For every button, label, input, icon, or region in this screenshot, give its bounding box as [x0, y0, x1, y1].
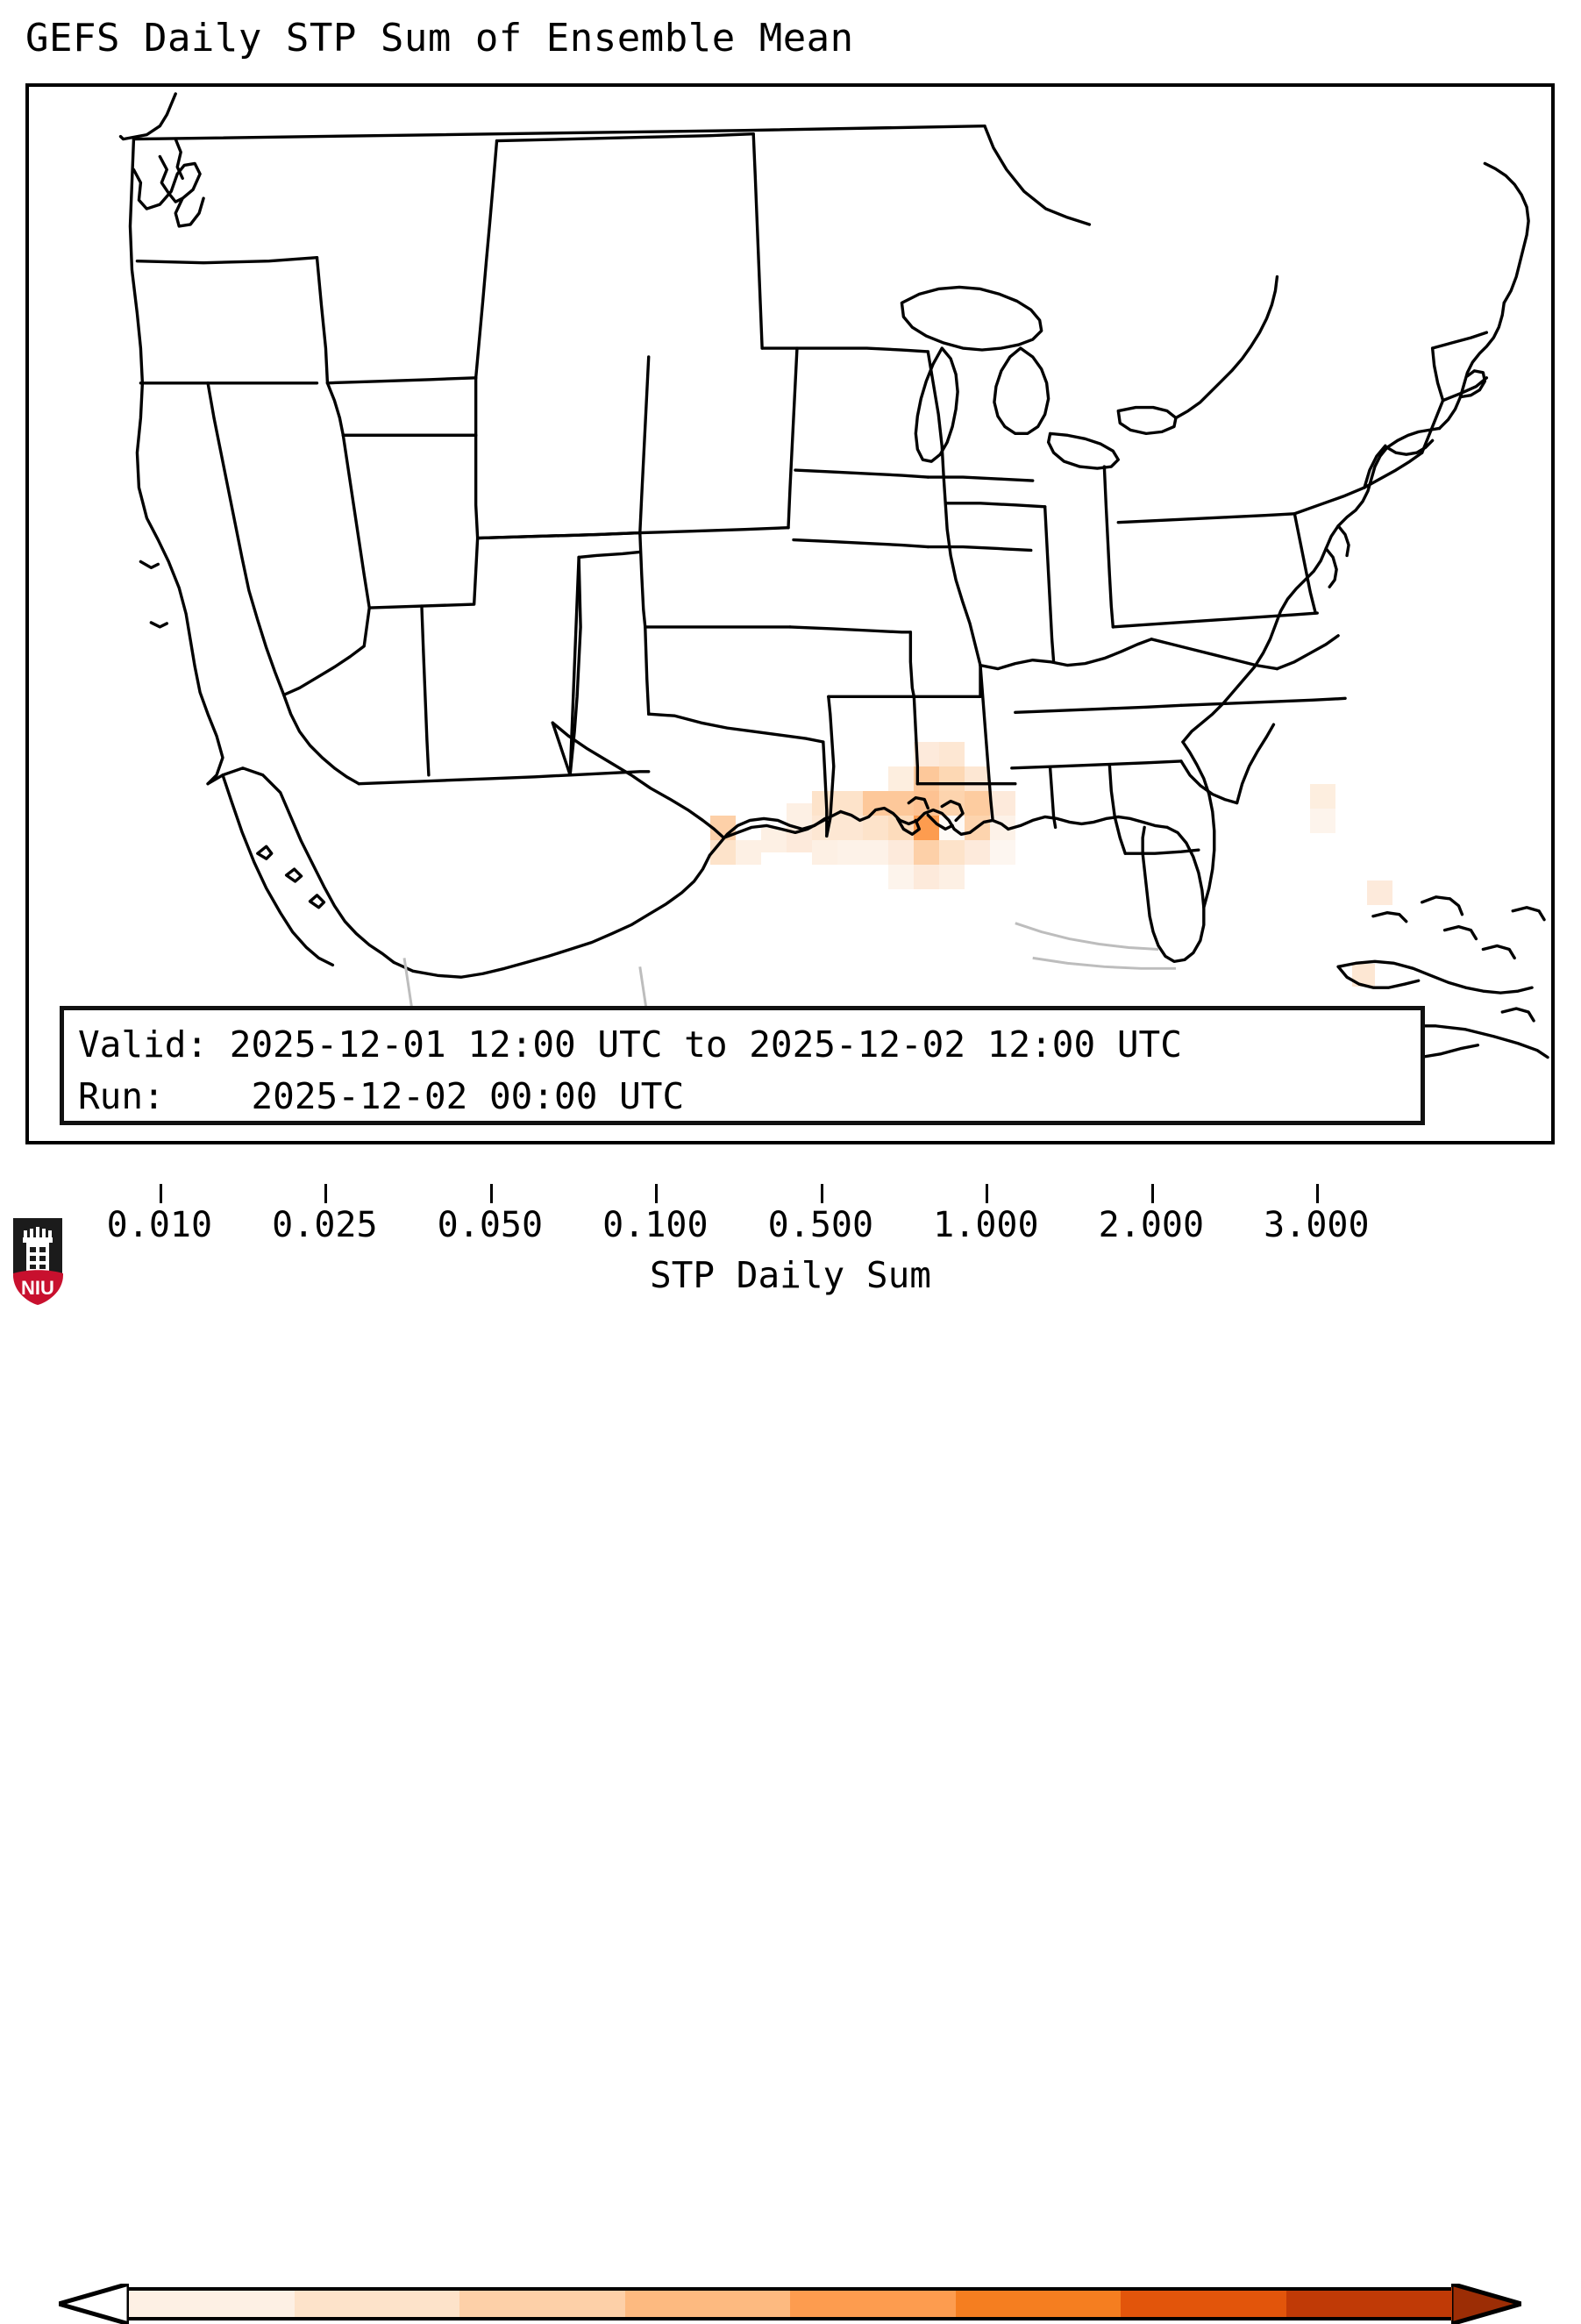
colorbar-tick-label: 2.000 — [1099, 1205, 1204, 1245]
coastline-and-borders — [121, 94, 1549, 1120]
colorbar-over-arrow — [1451, 2284, 1521, 2324]
valid-run-info-box: Valid: 2025-12-01 12:00 UTC to 2025-12-0… — [60, 1006, 1425, 1125]
colorbar-gradient — [129, 2287, 1451, 2320]
colorbar-tick-label: 0.010 — [107, 1205, 212, 1245]
colorbar-tick — [986, 1184, 988, 1203]
map-geography — [29, 87, 1551, 1141]
colorbar-segment — [790, 2287, 956, 2320]
colorbar-segment — [625, 2287, 791, 2320]
run-time-line: Run: 2025-12-02 00:00 UTC — [78, 1071, 1407, 1123]
valid-time-line: Valid: 2025-12-01 12:00 UTC to 2025-12-0… — [78, 1019, 1407, 1071]
niu-logo: NIU — [11, 1215, 65, 1307]
logo-text: NIU — [21, 1277, 54, 1299]
colorbar-tick-label: 0.050 — [438, 1205, 543, 1245]
colorbar-tick — [821, 1184, 823, 1203]
colorbar-tick — [1316, 1184, 1319, 1203]
colorbar-tick-label: 0.500 — [768, 1205, 873, 1245]
map-plot-area — [25, 83, 1555, 1144]
page-title: GEFS Daily STP Sum of Ensemble Mean — [25, 16, 854, 61]
colorbar-segment — [295, 2287, 460, 2320]
colorbar-tick-label: 1.000 — [933, 1205, 1038, 1245]
colorbar — [0, 1137, 1581, 1198]
colorbar-segment — [129, 2287, 295, 2320]
colorbar-tick-label: 3.000 — [1264, 1205, 1369, 1245]
colorbar-tick — [1151, 1184, 1154, 1203]
colorbar-axis-label: STP Daily Sum — [0, 1254, 1581, 1296]
colorbar-segment — [1121, 2287, 1286, 2320]
colorbar-tick-label: 0.025 — [272, 1205, 377, 1245]
colorbar-segment — [459, 2287, 625, 2320]
colorbar-under-arrow — [59, 2284, 129, 2324]
colorbar-tick — [160, 1184, 162, 1203]
colorbar-tick — [655, 1184, 658, 1203]
colorbar-tick — [490, 1184, 493, 1203]
colorbar-segment — [1286, 2287, 1452, 2320]
colorbar-tick-label: 0.100 — [602, 1205, 708, 1245]
colorbar-tick — [324, 1184, 327, 1203]
colorbar-segment — [956, 2287, 1122, 2320]
